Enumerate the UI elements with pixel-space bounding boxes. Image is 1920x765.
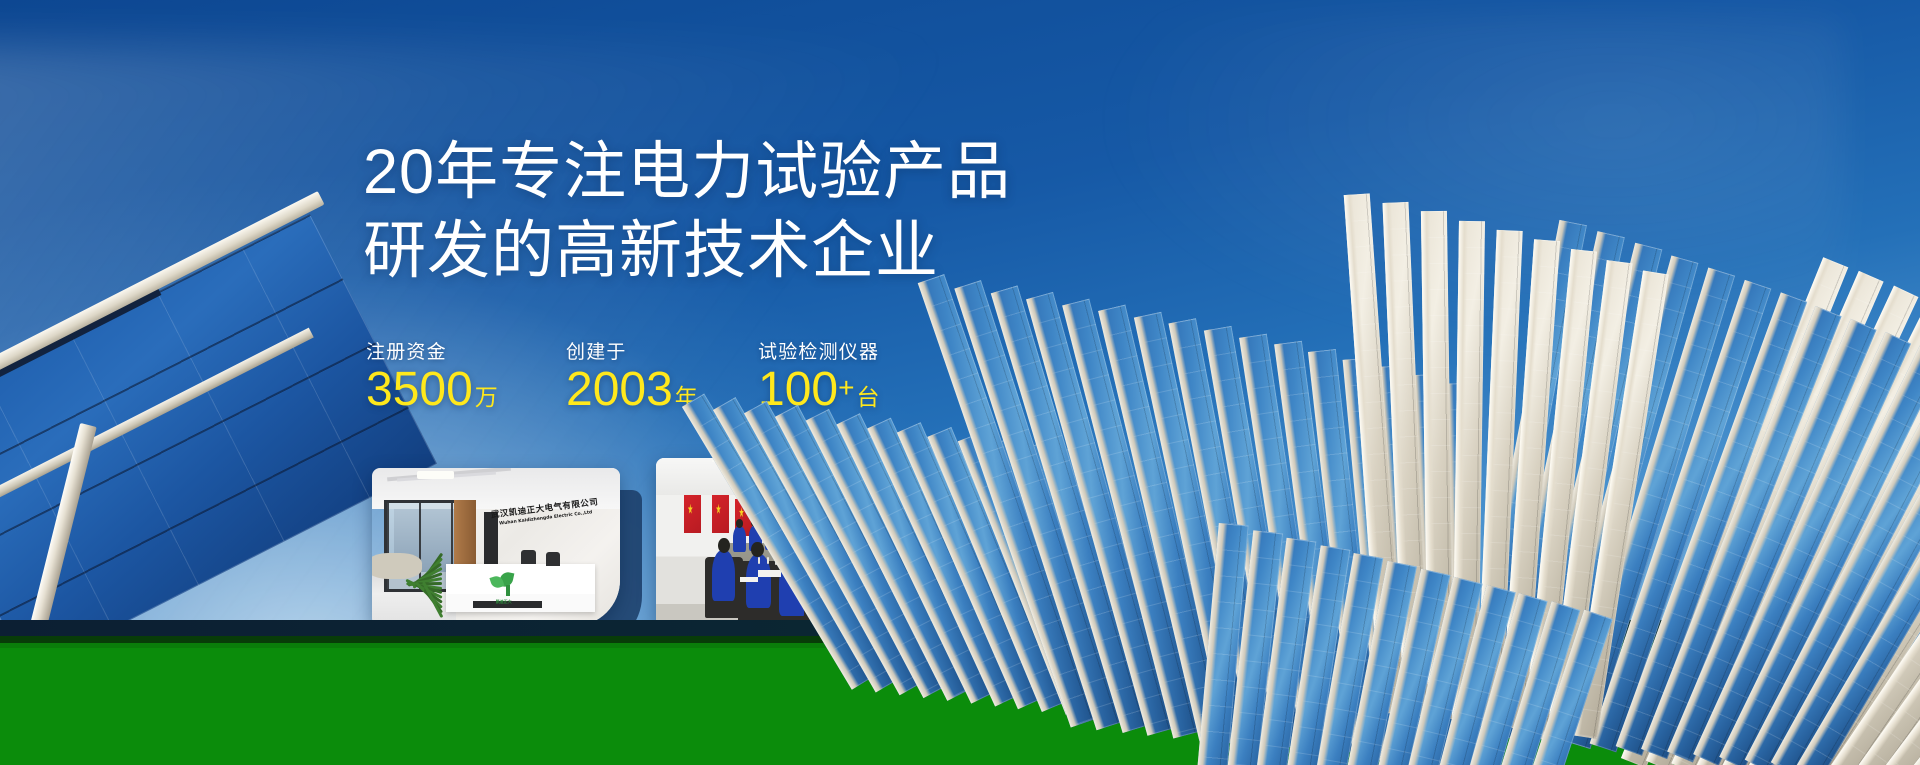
- photo-reception-image: 武汉凯迪正大电气有限公司 Wuhan Kaidizhengda Electric…: [372, 468, 620, 626]
- ceiling-light: [417, 471, 454, 479]
- party-flag: [684, 495, 701, 532]
- attendee-head: [718, 538, 730, 553]
- reception-planter: [372, 553, 422, 578]
- logo-stem: [506, 585, 510, 596]
- attendee-head: [751, 542, 764, 557]
- reception-chair: [546, 552, 561, 566]
- logo-text: 凯迪正大: [496, 599, 512, 605]
- document-paper: [740, 577, 758, 582]
- document-paper: [758, 570, 781, 577]
- national-flag: [712, 495, 729, 532]
- reception-chair: [521, 550, 536, 564]
- company-logo: 凯迪正大: [489, 572, 529, 604]
- hero-banner: 20年专注电力试验产品 研发的高新技术企业 注册资金 3500万 创建于 200…: [0, 0, 1920, 765]
- attendee-head: [736, 519, 744, 528]
- attendee: [712, 550, 735, 601]
- water-bottle: [767, 557, 769, 564]
- attendee: [733, 526, 746, 552]
- photo-card-reception[interactable]: 武汉凯迪正大电气有限公司 Wuhan Kaidizhengda Electric…: [372, 468, 620, 626]
